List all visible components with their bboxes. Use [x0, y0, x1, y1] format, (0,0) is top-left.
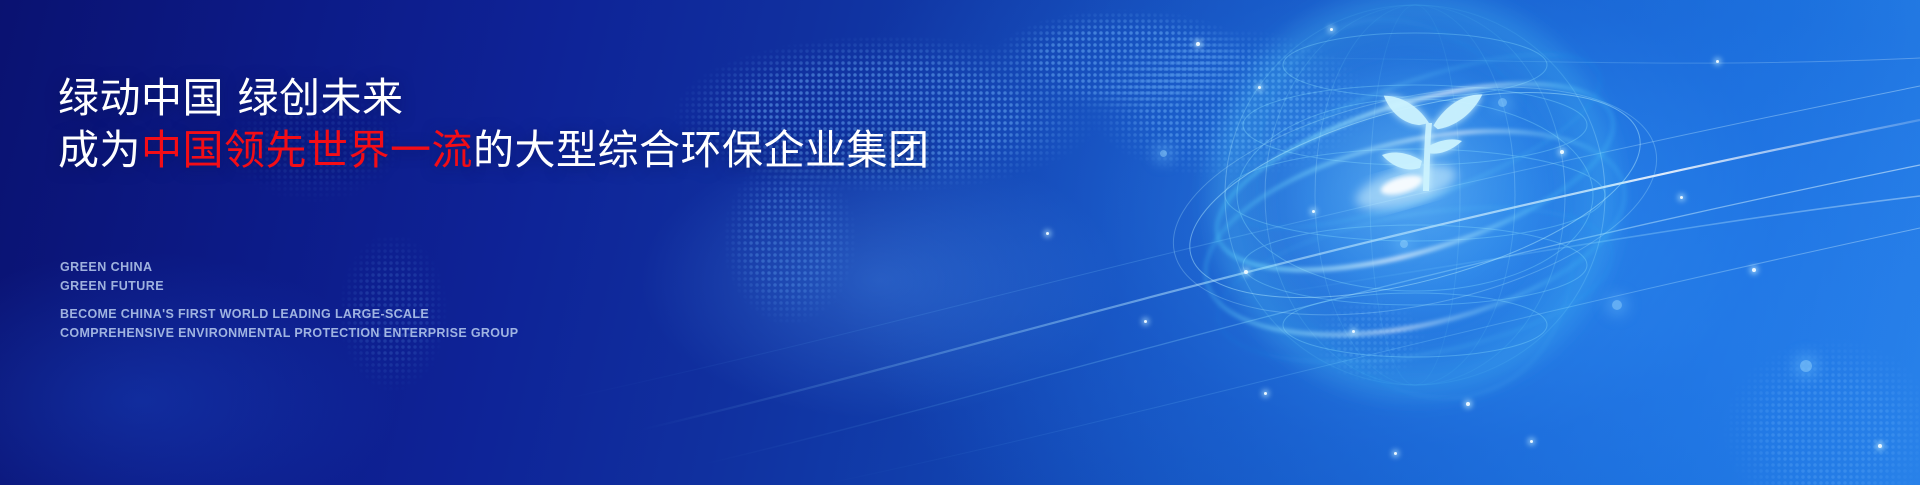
english-mission-line-2: COMPREHENSIVE ENVIRONMENTAL PROTECTION E… [60, 324, 518, 343]
ambient-glow-upper [1180, 40, 1580, 360]
map-region-east-asia [1060, 0, 1480, 230]
wireframe-globe-graphic [1180, 0, 1650, 435]
headline-line-2-suffix: 的大型综合环保企业集团 [473, 126, 930, 174]
english-mission-block: BECOME CHINA'S FIRST WORLD LEADING LARGE… [60, 305, 518, 344]
ambient-glow-center [620, 130, 1140, 430]
map-region-right-edge [1620, 300, 1920, 485]
promotional-banner: 绿动中国 绿创未来 成为中国领先世界一流的大型综合环保企业集团 GREEN CH… [0, 0, 1920, 485]
headline-copy-block: 绿动中国 绿创未来 成为中国领先世界一流的大型综合环保企业集团 [58, 74, 1118, 175]
light-streaks [0, 0, 1920, 485]
headline-line-2: 成为中国领先世界一流的大型综合环保企业集团 [58, 126, 1118, 174]
particle-field [0, 0, 1920, 485]
map-region-oceania [1240, 250, 1500, 450]
english-tagline-line-1: GREEN CHINA [60, 258, 164, 277]
headline-line-2-highlight: 中国领先世界一流 [141, 126, 473, 174]
dotted-world-map [0, 0, 1920, 485]
sprout-seedling-icon [1382, 91, 1486, 191]
headline-line-1: 绿动中国 绿创未来 [58, 74, 1118, 122]
english-tagline-block: GREEN CHINA GREEN FUTURE [60, 258, 164, 296]
english-mission-line-1: BECOME CHINA'S FIRST WORLD LEADING LARGE… [60, 305, 518, 324]
headline-line-2-prefix: 成为 [58, 126, 141, 174]
english-tagline-line-2: GREEN FUTURE [60, 277, 164, 296]
